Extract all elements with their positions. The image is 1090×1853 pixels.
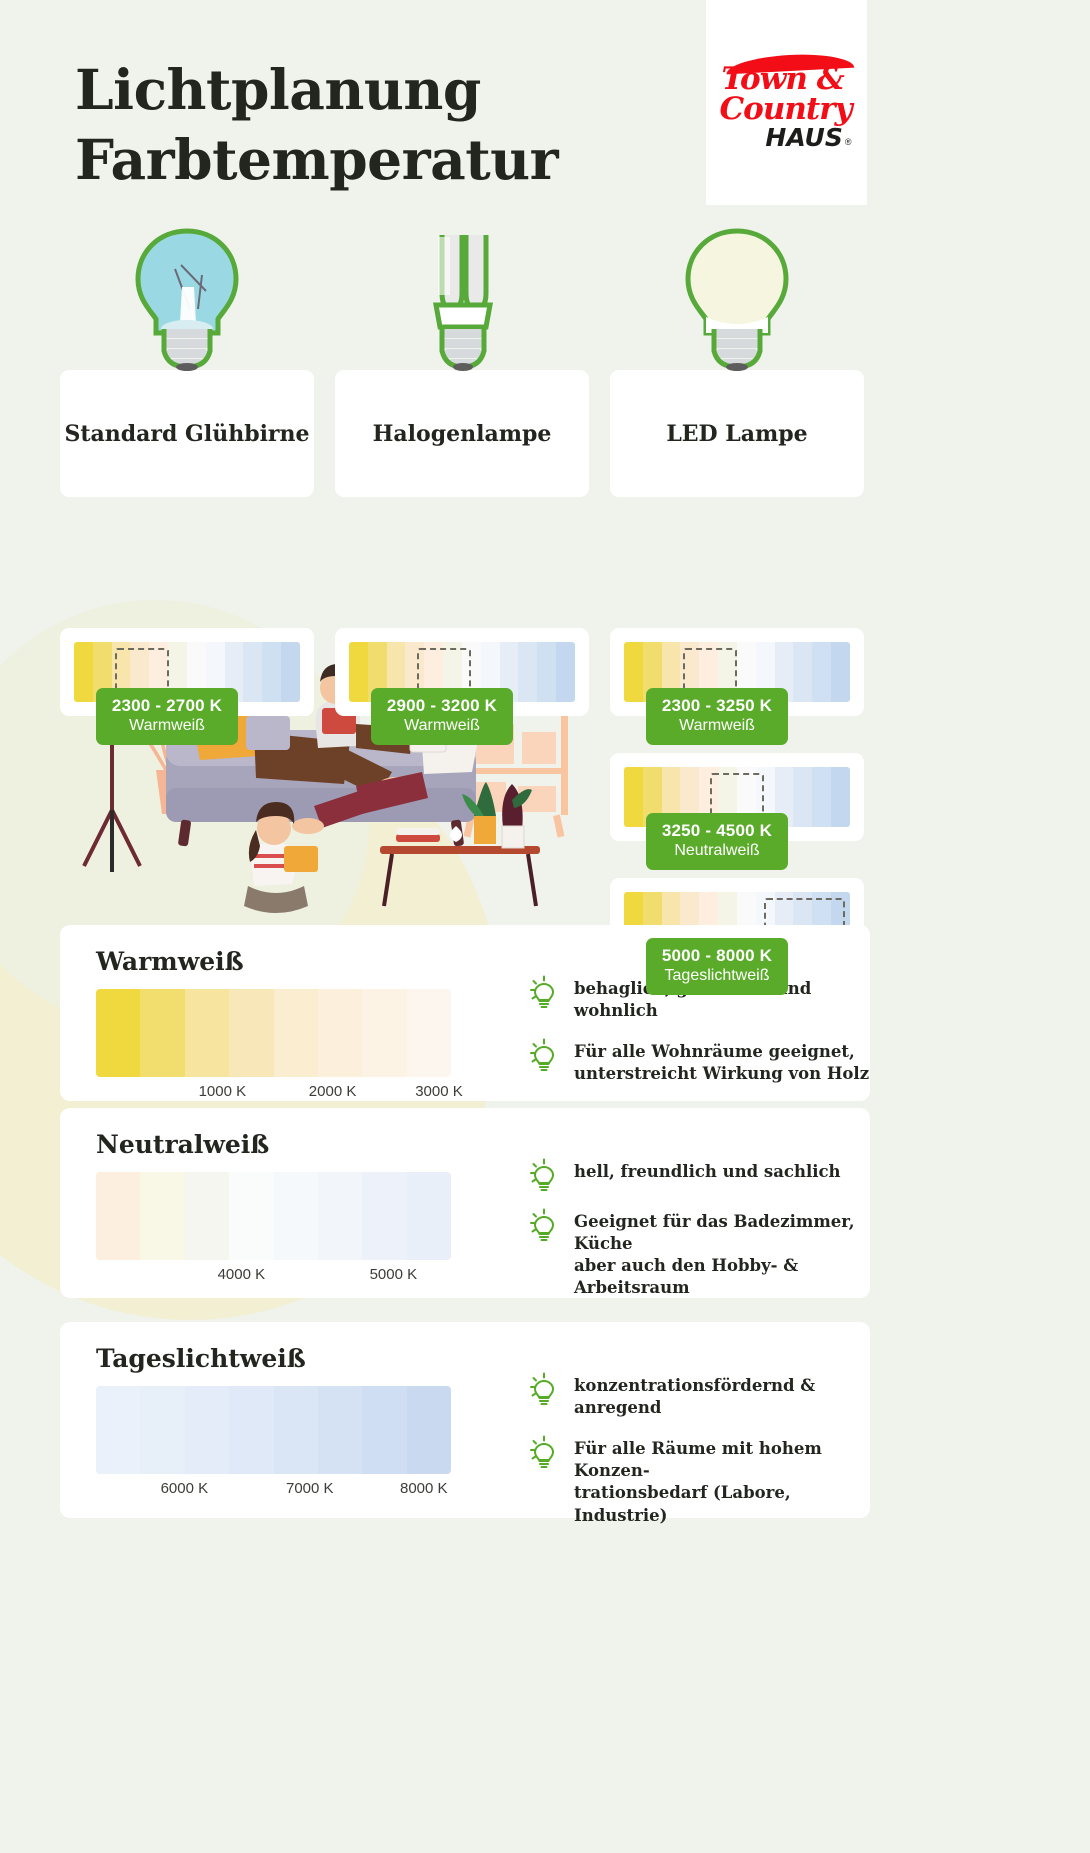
benefit-item: Für alle Wohnräume geeignet, unterstreic… bbox=[530, 1038, 870, 1085]
lamp-column-2: Halogenlampe bbox=[335, 370, 589, 497]
lamp-name-card[interactable]: Standard Glühbirne bbox=[60, 370, 314, 497]
led-bulb-icon bbox=[678, 225, 796, 378]
lamp-name-card[interactable]: LED Lampe bbox=[610, 370, 864, 497]
gradient-band-6 bbox=[362, 1386, 406, 1474]
benefit-text: hell, freundlich und sachlich bbox=[574, 1158, 841, 1183]
logo-haus-row: HAUS ® bbox=[722, 125, 852, 150]
logo-line-3: HAUS bbox=[765, 125, 842, 150]
badge-label: Warmweiß bbox=[385, 716, 499, 736]
benefit-item: hell, freundlich und sachlich bbox=[530, 1158, 870, 1192]
page-title-line-2: Farbtemperatur bbox=[75, 125, 558, 195]
strip-band-0 bbox=[624, 767, 643, 827]
gradient-band-1 bbox=[140, 989, 184, 1077]
kelvin-axis: 1000 K2000 K3000 K bbox=[96, 1083, 476, 1103]
section-gradient-strip bbox=[96, 1172, 451, 1260]
gradient-band-2 bbox=[185, 1386, 229, 1474]
idea-bulb-icon bbox=[530, 975, 558, 1009]
tick-label: 2000 K bbox=[309, 1083, 357, 1100]
benefit-item: Geeignet für das Badezimmer, Küche aber … bbox=[530, 1208, 870, 1299]
info-card-3: Tageslichtweiß 6000 K7000 K8000 K konzen… bbox=[60, 1322, 870, 1518]
gradient-band-0 bbox=[96, 1172, 140, 1260]
info-card-2: Neutralweiß 4000 K5000 K hell, freundlic… bbox=[60, 1108, 870, 1298]
benefit-text: Für alle Wohnräume geeignet, unterstreic… bbox=[574, 1038, 869, 1085]
strip-band-9 bbox=[793, 767, 812, 827]
tick-label: 4000 K bbox=[218, 1266, 266, 1283]
idea-bulb-icon bbox=[530, 1372, 558, 1406]
strip-band-9 bbox=[243, 642, 262, 702]
benefit-item: Für alle Räume mit hohem Konzen- tration… bbox=[530, 1435, 870, 1526]
gradient-band-6 bbox=[362, 1172, 406, 1260]
lamp-name: LED Lampe bbox=[666, 421, 807, 447]
strip-band-9 bbox=[793, 642, 812, 702]
gradient-band-1 bbox=[140, 1386, 184, 1474]
badge-label: Warmweiß bbox=[110, 716, 224, 736]
idea-bulb-icon bbox=[530, 1158, 558, 1192]
strip-band-11 bbox=[556, 642, 575, 702]
gradient-band-6 bbox=[362, 989, 406, 1077]
badge-kelvin: 2300 - 2700 K bbox=[110, 695, 224, 716]
benefit-list: hell, freundlich und sachlich Geeignet f… bbox=[530, 1158, 870, 1315]
gradient-band-7 bbox=[407, 1172, 451, 1260]
brand-logo: Town & Country HAUS ® bbox=[706, 0, 867, 205]
strip-band-9 bbox=[518, 642, 537, 702]
section-gradient-strip bbox=[96, 989, 451, 1077]
lamp-name-card[interactable]: Halogenlampe bbox=[335, 370, 589, 497]
benefit-text: Für alle Räume mit hohem Konzen- tration… bbox=[574, 1435, 870, 1526]
strip-band-10 bbox=[537, 642, 556, 702]
lamp-name: Standard Glühbirne bbox=[64, 421, 309, 447]
page-title-line-1: Lichtplanung bbox=[75, 55, 558, 125]
badge-kelvin: 2300 - 3250 K bbox=[660, 695, 774, 716]
lamp-column-1: Standard Glühbirne bbox=[60, 370, 314, 497]
gradient-band-0 bbox=[96, 1386, 140, 1474]
gradient-band-4 bbox=[274, 989, 318, 1077]
strip-band-11 bbox=[831, 767, 850, 827]
gradient-band-7 bbox=[407, 1386, 451, 1474]
strip-band-0 bbox=[74, 642, 93, 702]
gradient-band-1 bbox=[140, 1172, 184, 1260]
tick-label: 8000 K bbox=[400, 1480, 448, 1497]
gradient-band-7 bbox=[407, 989, 451, 1077]
section-title: Warmweiß bbox=[96, 947, 244, 976]
gradient-band-0 bbox=[96, 989, 140, 1077]
tick-label: 1000 K bbox=[199, 1083, 247, 1100]
gradient-band-4 bbox=[274, 1172, 318, 1260]
idea-bulb-icon bbox=[530, 1208, 558, 1242]
strip-band-10 bbox=[262, 642, 281, 702]
strip-band-10 bbox=[812, 642, 831, 702]
gradient-band-5 bbox=[318, 1386, 362, 1474]
registered-mark-icon: ® bbox=[845, 137, 852, 147]
temperature-range-badge[interactable]: 3250 - 4500 K Neutralweiß bbox=[646, 813, 788, 870]
gradient-band-3 bbox=[229, 989, 273, 1077]
benefit-item: konzentrationsfördernd & anregend bbox=[530, 1372, 870, 1419]
logo-line-2: Country bbox=[720, 94, 850, 125]
tick-label: 3000 K bbox=[415, 1083, 463, 1100]
temperature-range-badge[interactable]: 2300 - 2700 K Warmweiß bbox=[96, 688, 238, 745]
idea-bulb-icon bbox=[530, 1038, 558, 1072]
strip-band-11 bbox=[281, 642, 300, 702]
strip-band-10 bbox=[812, 767, 831, 827]
benefit-text: konzentrationsfördernd & anregend bbox=[574, 1372, 870, 1419]
gradient-band-4 bbox=[274, 1386, 318, 1474]
temperature-range-badge[interactable]: 2900 - 3200 K Warmweiß bbox=[371, 688, 513, 745]
lamp-column-3: LED Lampe bbox=[610, 370, 864, 497]
page-title: Lichtplanung Farbtemperatur bbox=[75, 55, 558, 196]
temperature-range-badge[interactable]: 2300 - 3250 K Warmweiß bbox=[646, 688, 788, 745]
strip-band-0 bbox=[624, 642, 643, 702]
benefit-text: Geeignet für das Badezimmer, Küche aber … bbox=[574, 1208, 870, 1299]
gradient-band-5 bbox=[318, 1172, 362, 1260]
tick-label: 7000 K bbox=[286, 1480, 334, 1497]
halogen-cfl-bulb-icon bbox=[412, 225, 512, 378]
section-title: Neutralweiß bbox=[96, 1130, 269, 1159]
gradient-band-3 bbox=[229, 1386, 273, 1474]
gradient-band-3 bbox=[229, 1172, 273, 1260]
badge-label: Tageslichtweiß bbox=[660, 966, 774, 986]
tick-label: 6000 K bbox=[161, 1480, 209, 1497]
badge-label: Warmweiß bbox=[660, 716, 774, 736]
badge-kelvin: 2900 - 3200 K bbox=[385, 695, 499, 716]
incandescent-bulb-icon bbox=[128, 225, 246, 378]
temperature-range-badge[interactable]: 5000 - 8000 K Tageslichtweiß bbox=[646, 938, 788, 995]
strip-band-0 bbox=[349, 642, 368, 702]
idea-bulb-icon bbox=[530, 1435, 558, 1469]
section-gradient-strip bbox=[96, 1386, 451, 1474]
section-title: Tageslichtweiß bbox=[96, 1344, 306, 1373]
benefit-list: konzentrationsfördernd & anregend Für al… bbox=[530, 1372, 870, 1543]
kelvin-axis: 6000 K7000 K8000 K bbox=[96, 1480, 476, 1500]
kelvin-axis: 4000 K5000 K bbox=[96, 1266, 476, 1286]
gradient-band-2 bbox=[185, 989, 229, 1077]
strip-band-11 bbox=[831, 642, 850, 702]
badge-kelvin: 3250 - 4500 K bbox=[660, 820, 774, 841]
gradient-band-5 bbox=[318, 989, 362, 1077]
badge-kelvin: 5000 - 8000 K bbox=[660, 945, 774, 966]
gradient-band-2 bbox=[185, 1172, 229, 1260]
lamp-name: Halogenlampe bbox=[373, 421, 552, 447]
tick-label: 5000 K bbox=[370, 1266, 418, 1283]
badge-label: Neutralweiß bbox=[660, 841, 774, 861]
